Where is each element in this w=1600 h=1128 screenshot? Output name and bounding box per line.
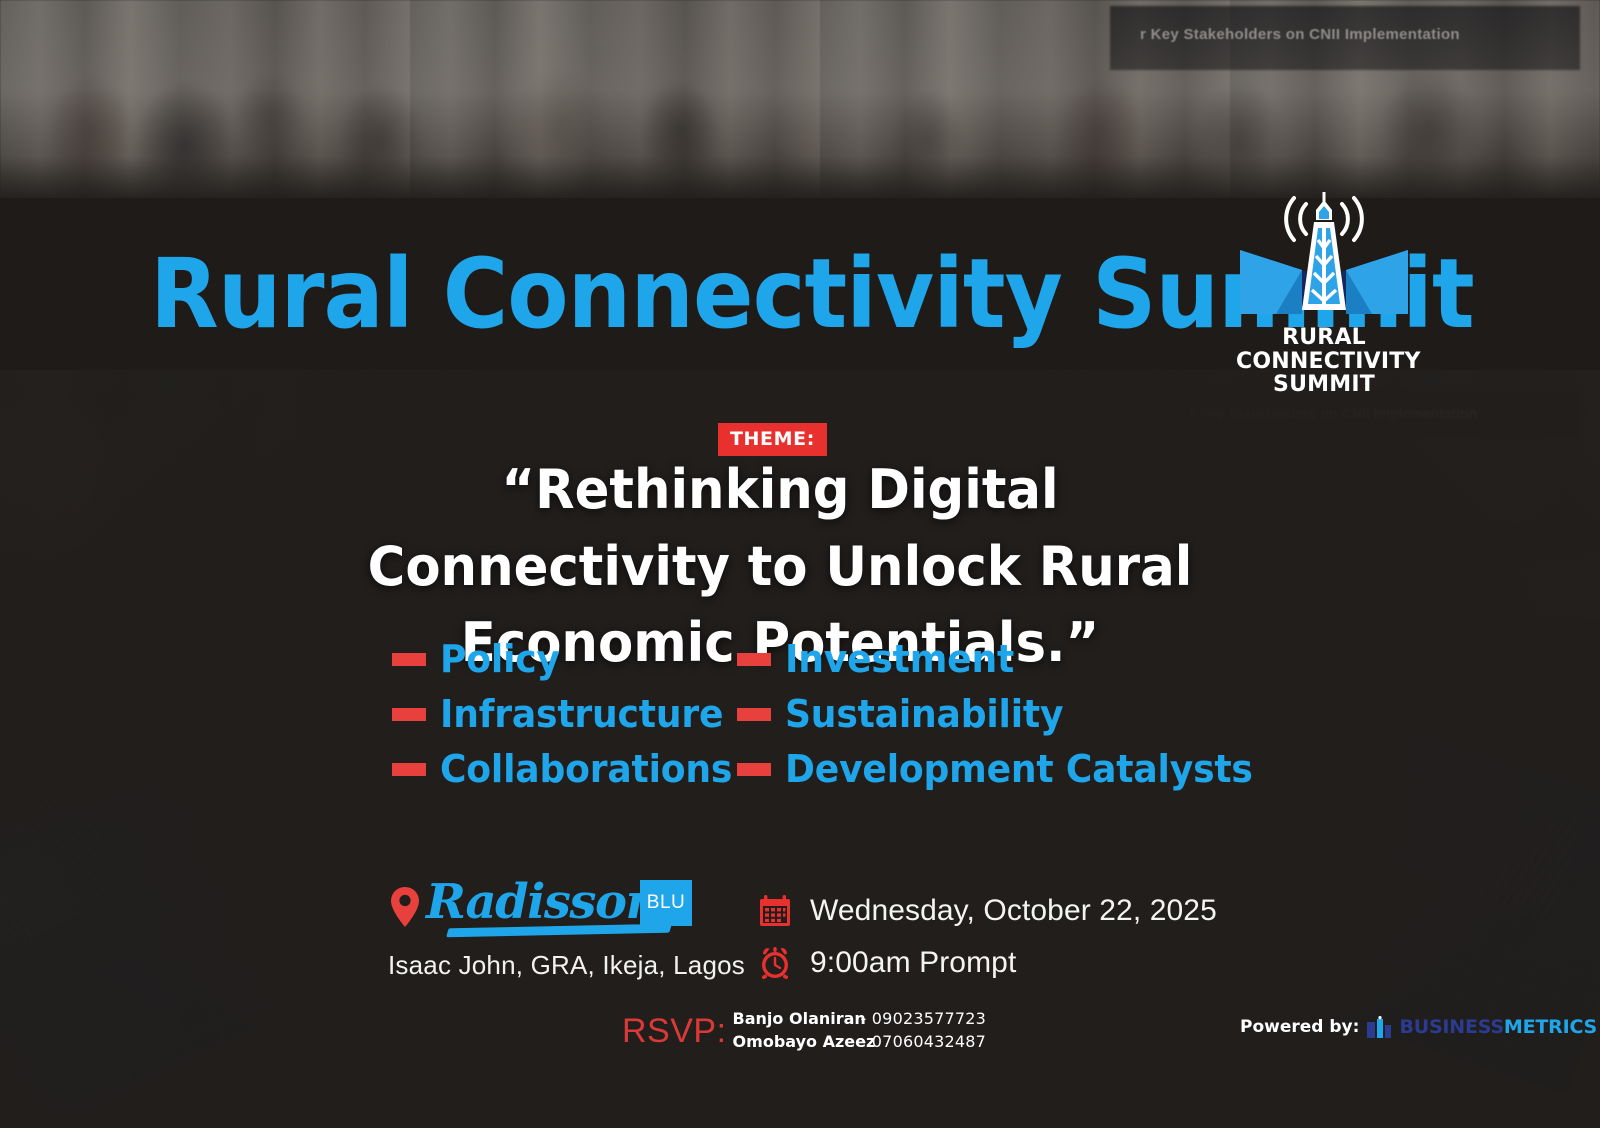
bullet-dash-icon [392, 708, 426, 721]
rsvp-block: RSVP: Banjo Olaniran - 09023577723 Omoba… [622, 1008, 986, 1053]
schedule-block: Wednesday, October 22, 2025 9:00am Promp… [758, 885, 1217, 989]
topic-list: Policy Investment Infrastructure Sustain… [392, 640, 1222, 788]
topic-item: Policy [392, 640, 737, 678]
topic-label: Development Catalysts [785, 750, 1253, 788]
powered-by-block: Powered by: BUSINESSMETRICS [1240, 1016, 1597, 1038]
topic-label: Investment [785, 640, 1014, 678]
alarm-clock-icon [758, 946, 792, 980]
event-time: 9:00am Prompt [810, 946, 1016, 980]
brand-word-metrics: METRICS [1504, 1016, 1597, 1038]
radisson-wordmark: Radisson [426, 878, 659, 926]
summit-logo-line-1: RURAL [1236, 326, 1412, 350]
event-date: Wednesday, October 22, 2025 [810, 894, 1217, 928]
venue-logo-row: Radisson BLU [390, 876, 720, 938]
summit-logo-line-3: SUMMIT [1236, 373, 1412, 397]
topic-item: Investment [737, 640, 1207, 678]
rsvp-contact-list: Banjo Olaniran - 09023577723 Omobayo Aze… [733, 1008, 986, 1053]
topic-label: Policy [440, 640, 560, 678]
rsvp-contact-name: Omobayo Azeez [733, 1031, 861, 1054]
page-title: Rural Connectivity Summit [150, 246, 1136, 342]
schedule-time-row: 9:00am Prompt [758, 937, 1217, 989]
bullet-dash-icon [737, 708, 771, 721]
radisson-blu-badge: BLU [640, 880, 692, 926]
business-metrics-wordmark: BUSINESSMETRICS [1399, 1016, 1597, 1038]
brand-word-business: BUSINESS [1399, 1016, 1503, 1038]
rsvp-label: RSVP: [622, 1014, 727, 1048]
rsvp-contact-name: Banjo Olaniran [733, 1008, 861, 1031]
rsvp-contact-phone: - 09023577723 [861, 1008, 986, 1031]
topic-item: Collaborations [392, 750, 737, 788]
tower-logo-icon [1236, 186, 1412, 332]
venue-address: Isaac John, GRA, Ikeja, Lagos [388, 950, 728, 981]
topic-label: Infrastructure [440, 695, 723, 733]
bullet-dash-icon [737, 763, 771, 776]
calendar-icon [758, 894, 792, 928]
bullet-dash-icon [392, 763, 426, 776]
rsvp-contact-phone: - 07060432487 [861, 1031, 986, 1054]
topic-item: Development Catalysts [737, 750, 1207, 788]
bullet-dash-icon [392, 653, 426, 666]
topic-item: Sustainability [737, 695, 1207, 733]
topic-label: Collaborations [440, 750, 732, 788]
topic-label: Sustainability [785, 695, 1063, 733]
schedule-date-row: Wednesday, October 22, 2025 [758, 885, 1217, 937]
topic-item: Infrastructure [392, 695, 737, 733]
summit-logo: RURAL CONNECTIVITY SUMMIT [1236, 186, 1412, 402]
venue-block: Radisson BLU Isaac John, GRA, Ikeja, Lag… [390, 876, 720, 938]
location-pin-icon [390, 886, 420, 928]
business-metrics-logo-icon [1367, 1016, 1391, 1038]
summit-logo-text: RURAL CONNECTIVITY SUMMIT [1236, 326, 1412, 397]
rsvp-contact: Omobayo Azeez - 07060432487 [733, 1031, 986, 1054]
event-poster: r Key Stakeholders on CNII Implementatio… [0, 0, 1600, 1128]
summit-logo-line-2: CONNECTIVITY [1236, 350, 1412, 374]
bullet-dash-icon [737, 653, 771, 666]
rsvp-contact: Banjo Olaniran - 09023577723 [733, 1008, 986, 1031]
powered-by-label: Powered by: [1240, 1017, 1359, 1037]
